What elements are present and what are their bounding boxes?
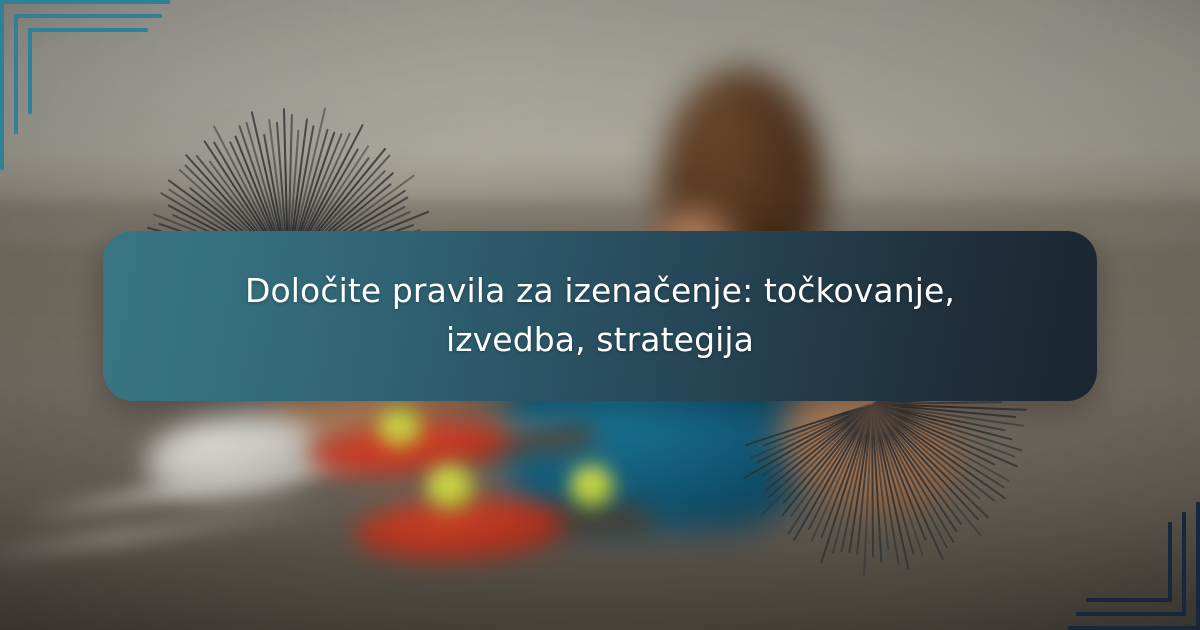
page-title: Določite pravila za izenačenje: točkovan…	[187, 267, 1012, 365]
title-card: Določite pravila za izenačenje: točkovan…	[103, 231, 1097, 401]
poster-canvas: Določite pravila za izenačenje: točkovan…	[0, 0, 1200, 630]
tennis-ball	[570, 465, 614, 507]
tennis-ball	[378, 406, 422, 446]
tennis-ball	[426, 465, 474, 509]
